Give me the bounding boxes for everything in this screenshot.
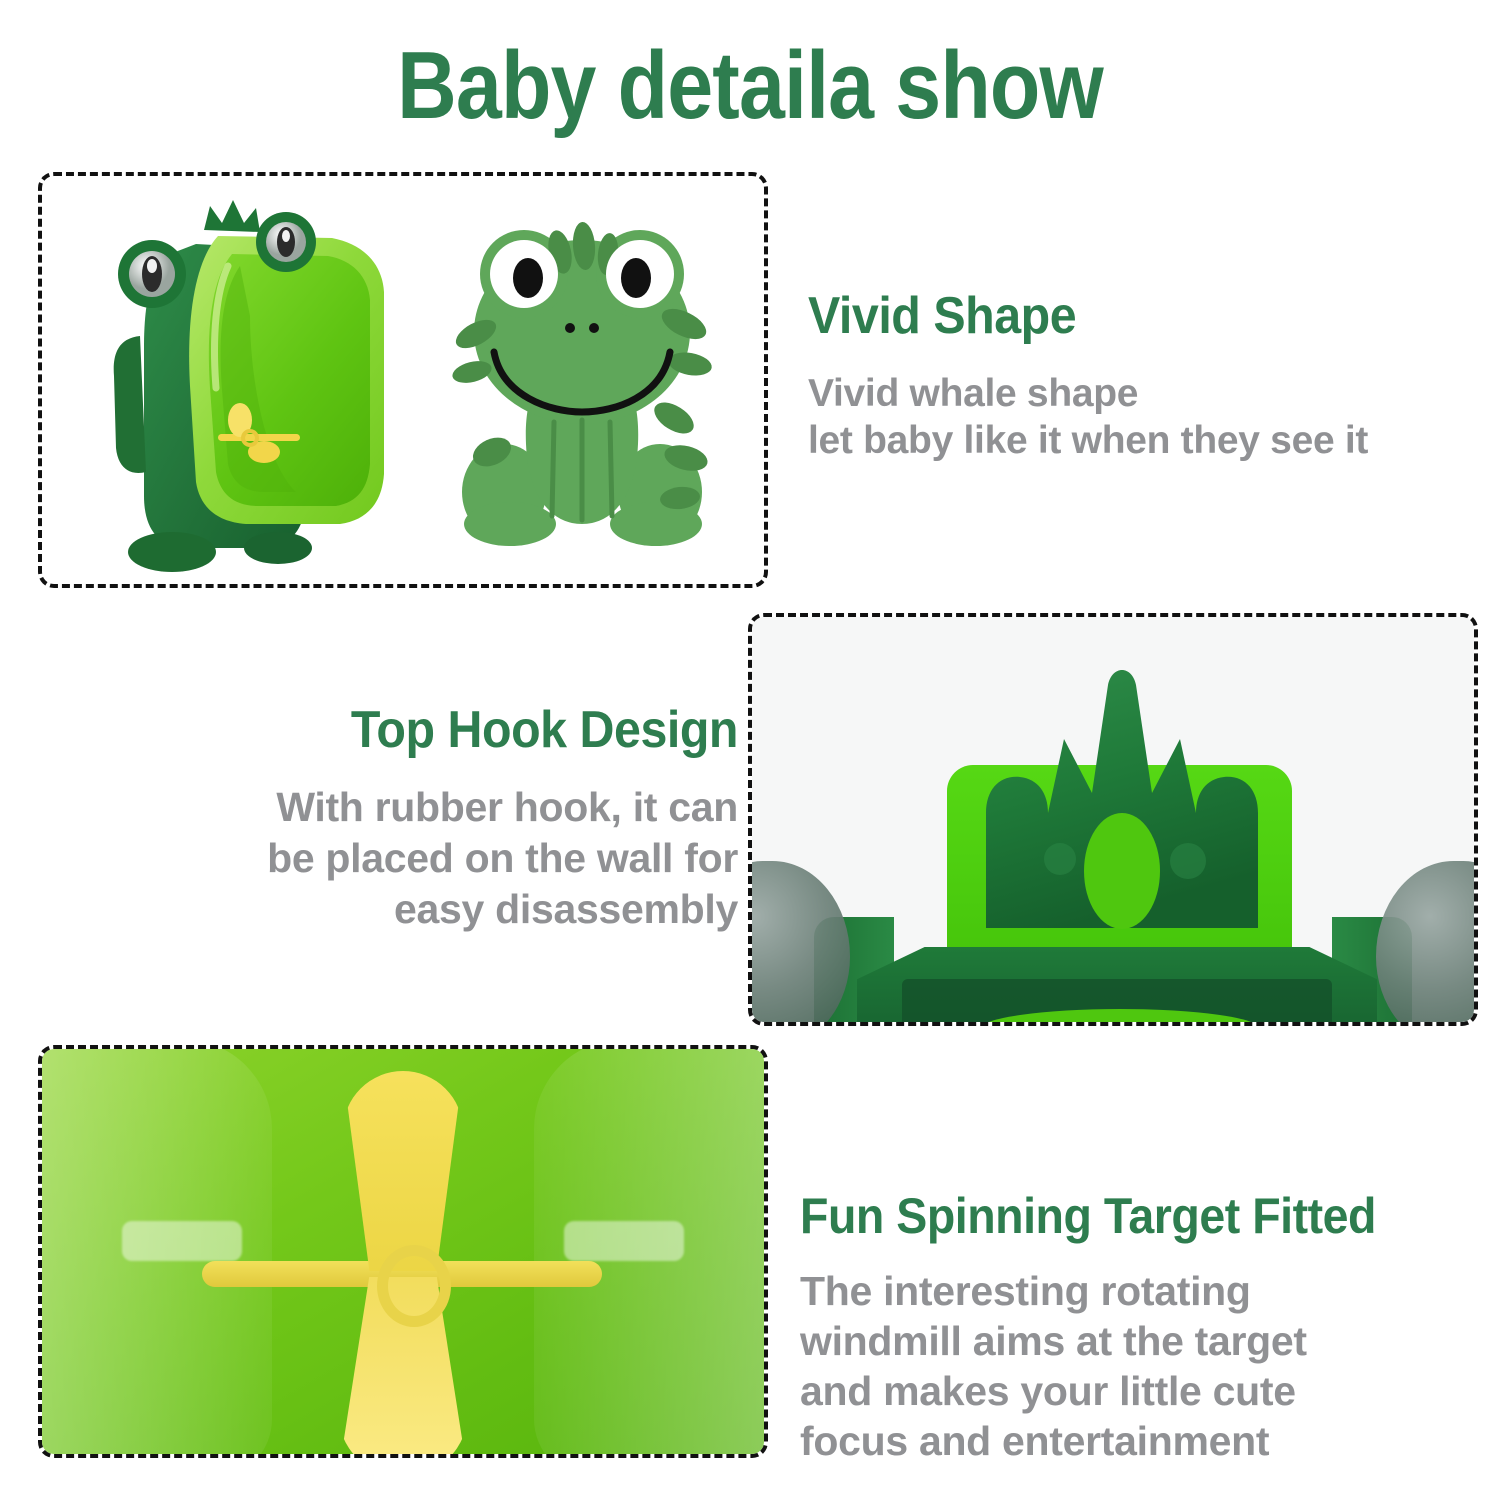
feature-heading-fun-spinning-target: Fun Spinning Target Fitted xyxy=(800,1186,1451,1246)
suction-cup-right xyxy=(1376,861,1474,1022)
windmill-hub-ring xyxy=(377,1245,451,1327)
feature-body-fun-spinning-target: The interesting rotating windmill aims a… xyxy=(800,1266,1500,1466)
frog-urinal-product-photo xyxy=(100,196,400,576)
crown-hook-closeup-photo xyxy=(752,617,1474,1022)
feature-body-vivid-shape: Vivid whale shape let baby like it when … xyxy=(808,370,1488,464)
windmill-vane-top xyxy=(343,1071,463,1271)
feature-text-fun-spinning-target: Fun Spinning Target Fitted The interesti… xyxy=(800,1186,1500,1466)
product-eye-left xyxy=(118,240,186,308)
page-title: Baby detaila show xyxy=(105,34,1395,138)
feature-text-vivid-shape: Vivid Shape Vivid whale shape let baby l… xyxy=(808,286,1488,464)
feature-body-top-hook-design: With rubber hook, it can be placed on th… xyxy=(118,782,738,935)
bowl-ledge-right xyxy=(564,1221,684,1261)
panel-product-overview xyxy=(38,172,768,588)
feature-heading-vivid-shape: Vivid Shape xyxy=(808,286,1440,346)
feature-heading-top-hook-design: Top Hook Design xyxy=(161,700,738,760)
suction-cup-left xyxy=(752,861,850,1022)
feature-text-top-hook-design: Top Hook Design With rubber hook, it can… xyxy=(118,700,738,935)
panel-spinning-windmill xyxy=(38,1045,768,1458)
cartoon-frog-illustration xyxy=(432,212,732,552)
product-eye-right xyxy=(256,212,316,272)
panel-crown-hook xyxy=(748,613,1478,1026)
panel-product-overview-inner xyxy=(42,176,764,584)
yellow-windmill-closeup-photo xyxy=(42,1049,764,1454)
crown-hook-icon xyxy=(952,643,1292,933)
bowl-ledge-left xyxy=(122,1221,242,1261)
